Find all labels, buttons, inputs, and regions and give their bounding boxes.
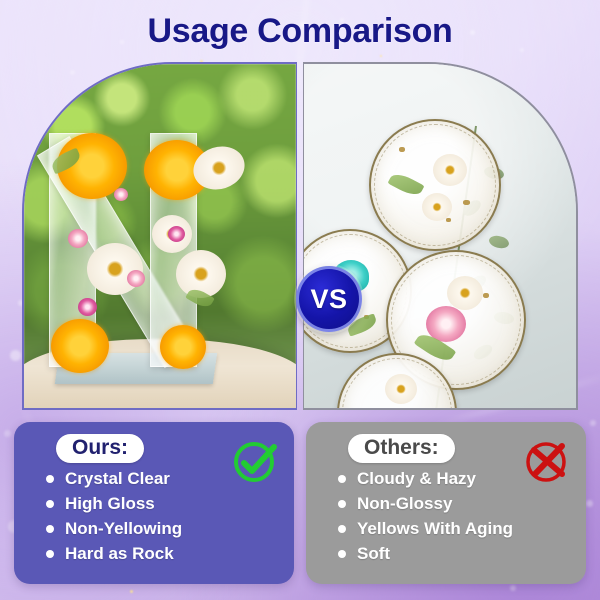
pink-flower bbox=[114, 188, 128, 201]
daisy-flower bbox=[385, 374, 417, 404]
feature-item: Non-Glossy bbox=[338, 495, 572, 512]
vs-badge: VS bbox=[296, 266, 362, 332]
bullet-icon bbox=[338, 475, 346, 483]
feature-label: High Gloss bbox=[65, 495, 155, 512]
feature-item: Hard as Rock bbox=[46, 545, 280, 562]
feature-label: Hard as Rock bbox=[65, 545, 174, 562]
photo-comparison-row bbox=[22, 62, 578, 410]
gold-fleck bbox=[463, 200, 470, 205]
resin-coaster bbox=[369, 119, 501, 251]
bullet-icon bbox=[46, 550, 54, 558]
feature-label: Soft bbox=[357, 545, 390, 562]
bokeh-dot bbox=[586, 500, 593, 507]
feature-label: Cloudy & Hazy bbox=[357, 470, 476, 487]
red-cross-icon bbox=[522, 436, 572, 486]
bullet-icon bbox=[338, 525, 346, 533]
daisy-flower bbox=[433, 154, 467, 186]
feature-label: Crystal Clear bbox=[65, 470, 170, 487]
gold-fleck bbox=[364, 315, 369, 319]
leaf-fragment bbox=[388, 170, 425, 199]
comparison-cards: Ours: Crystal ClearHigh GlossNon-Yellowi… bbox=[14, 422, 586, 584]
daisy-flower bbox=[422, 193, 452, 221]
bokeh-dot bbox=[510, 585, 516, 591]
feature-item: High Gloss bbox=[46, 495, 280, 512]
daisy-flower bbox=[87, 243, 143, 295]
gold-fleck bbox=[483, 293, 489, 298]
gold-fleck bbox=[399, 147, 405, 152]
daisy-flower bbox=[447, 276, 483, 310]
bullet-icon bbox=[46, 475, 54, 483]
marigold-flower bbox=[51, 319, 109, 373]
gold-fleck bbox=[446, 218, 451, 222]
pink-flower bbox=[426, 306, 466, 342]
sparkle-dot bbox=[380, 55, 382, 57]
feature-item: Yellows With Aging bbox=[338, 520, 572, 537]
feature-item: Soft bbox=[338, 545, 572, 562]
bullet-icon bbox=[46, 525, 54, 533]
others-card: Others: Cloudy & HazyNon-GlossyYellows W… bbox=[306, 422, 586, 584]
bullet-icon bbox=[46, 500, 54, 508]
bokeh-dot bbox=[10, 350, 21, 361]
ours-card: Ours: Crystal ClearHigh GlossNon-Yellowi… bbox=[14, 422, 294, 584]
bokeh-dot bbox=[590, 420, 596, 426]
feature-label: Non-Glossy bbox=[357, 495, 452, 512]
bullet-icon bbox=[338, 550, 346, 558]
magenta-flower bbox=[168, 226, 185, 242]
bokeh-dot bbox=[4, 430, 11, 437]
photo-others-cloudy-coasters bbox=[303, 62, 578, 410]
sparkle-dot bbox=[130, 590, 133, 593]
green-check-icon bbox=[230, 436, 280, 486]
bullet-icon bbox=[338, 500, 346, 508]
vs-label: VS bbox=[310, 286, 347, 313]
photo-ours-clear-resin-letter bbox=[22, 62, 297, 410]
feature-label: Non-Yellowing bbox=[65, 520, 182, 537]
page-title: Usage Comparison bbox=[0, 12, 600, 51]
others-heading: Others: bbox=[348, 434, 455, 463]
feature-item: Non-Yellowing bbox=[46, 520, 280, 537]
feature-label: Yellows With Aging bbox=[357, 520, 513, 537]
pink-flower bbox=[68, 229, 88, 248]
ours-heading: Ours: bbox=[56, 434, 144, 463]
